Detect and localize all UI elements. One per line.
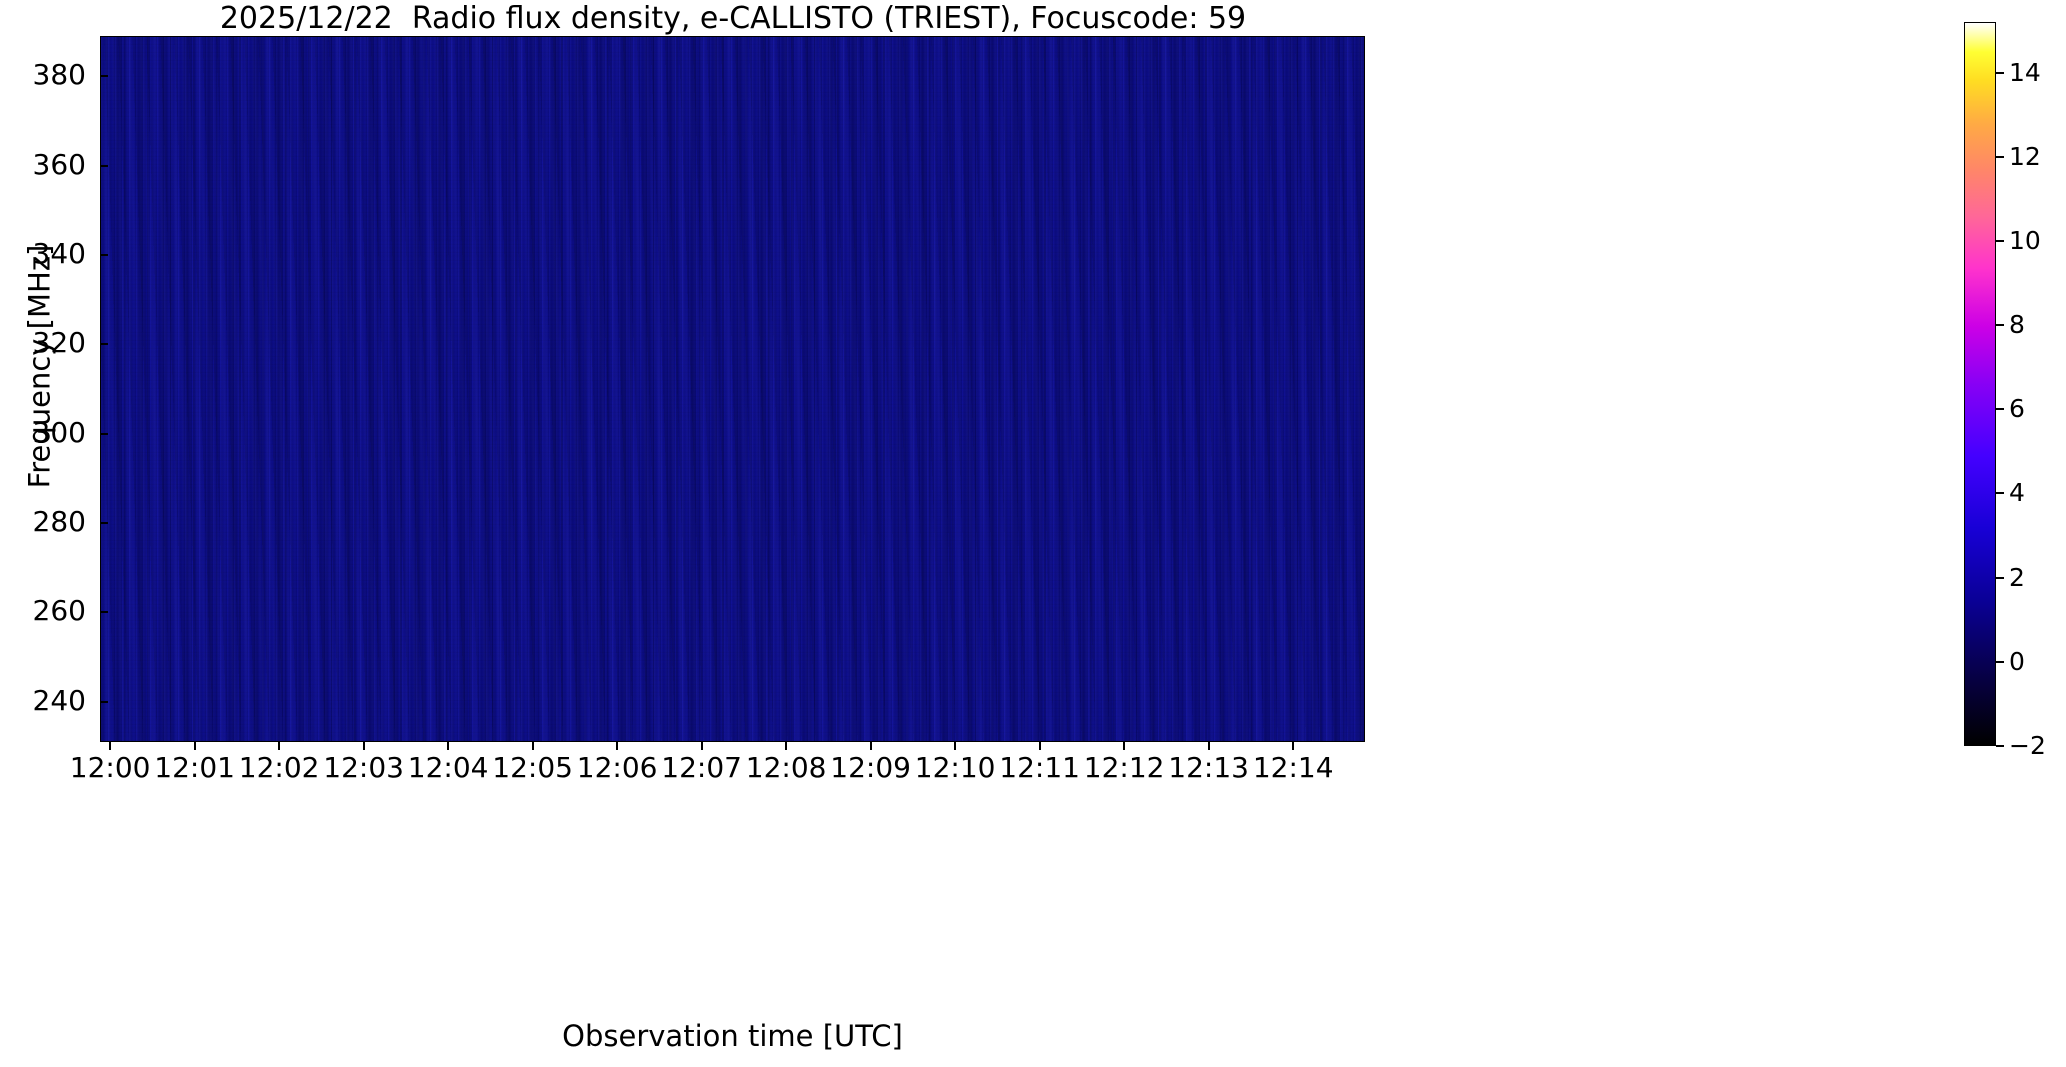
colorbar-tick-label: 0: [2009, 647, 2025, 676]
x-tick-mark: [616, 742, 618, 750]
x-tick-mark: [1123, 742, 1125, 750]
colorbar[interactable]: −202468101214: [1964, 22, 1996, 746]
y-tick-mark: [100, 433, 108, 435]
colorbar-tick-mark: [1996, 577, 2004, 579]
colorbar-ticks: −202468101214: [1996, 22, 2066, 746]
y-axis-label: Frequency [MHz]: [24, 17, 57, 717]
colorbar-tick-label: 4: [2009, 478, 2025, 507]
y-tick-mark: [100, 522, 108, 524]
x-tick-mark: [363, 742, 365, 750]
x-tick-mark: [1208, 742, 1210, 750]
colorbar-tick-label: −2: [2009, 731, 2046, 760]
x-axis-label: Observation time [UTC]: [100, 1019, 1365, 1053]
x-tick-mark: [194, 742, 196, 750]
colorbar-tick-label: 14: [2009, 58, 2041, 87]
y-tick-mark: [100, 611, 108, 613]
colorbar-tick-label: 8: [2009, 310, 2025, 339]
x-tick-mark: [701, 742, 703, 750]
colorbar-tick-label: 10: [2009, 226, 2041, 255]
colorbar-tick-mark: [1996, 661, 2004, 663]
colorbar-tick-label: 12: [2009, 142, 2041, 171]
x-tick-label: 12:14: [1233, 752, 1353, 784]
spectrogram-plot-area[interactable]: [100, 36, 1365, 742]
y-tick-mark: [100, 75, 108, 77]
x-tick-mark: [447, 742, 449, 750]
y-tick-mark: [100, 343, 108, 345]
colorbar-tick-mark: [1996, 156, 2004, 158]
x-tick-mark: [532, 742, 534, 750]
x-axis-ticks: 12:0012:0112:0212:0312:0412:0512:0612:07…: [100, 742, 1365, 802]
spectrogram-raster: [101, 37, 1364, 741]
x-tick-mark: [1039, 742, 1041, 750]
y-tick-mark: [100, 254, 108, 256]
x-tick-mark: [785, 742, 787, 750]
colorbar-tick-mark: [1996, 745, 2004, 747]
colorbar-tick-mark: [1996, 324, 2004, 326]
colorbar-tick-mark: [1996, 72, 2004, 74]
x-tick-mark: [278, 742, 280, 750]
colorbar-tick-mark: [1996, 408, 2004, 410]
colorbar-gradient: [1964, 22, 1996, 746]
x-tick-mark: [109, 742, 111, 750]
x-tick-mark: [954, 742, 956, 750]
colorbar-tick-mark: [1996, 492, 2004, 494]
colorbar-tick-label: 6: [2009, 394, 2025, 423]
colorbar-tick-mark: [1996, 240, 2004, 242]
y-tick-mark: [100, 165, 108, 167]
y-tick-mark: [100, 701, 108, 703]
colorbar-tick-label: 2: [2009, 563, 2025, 592]
figure-canvas: 2025/12/22 Radio flux density, e-CALLIST…: [0, 0, 2066, 1067]
x-tick-mark: [1292, 742, 1294, 750]
x-tick-mark: [870, 742, 872, 750]
page-title: 2025/12/22 Radio flux density, e-CALLIST…: [100, 2, 1366, 36]
